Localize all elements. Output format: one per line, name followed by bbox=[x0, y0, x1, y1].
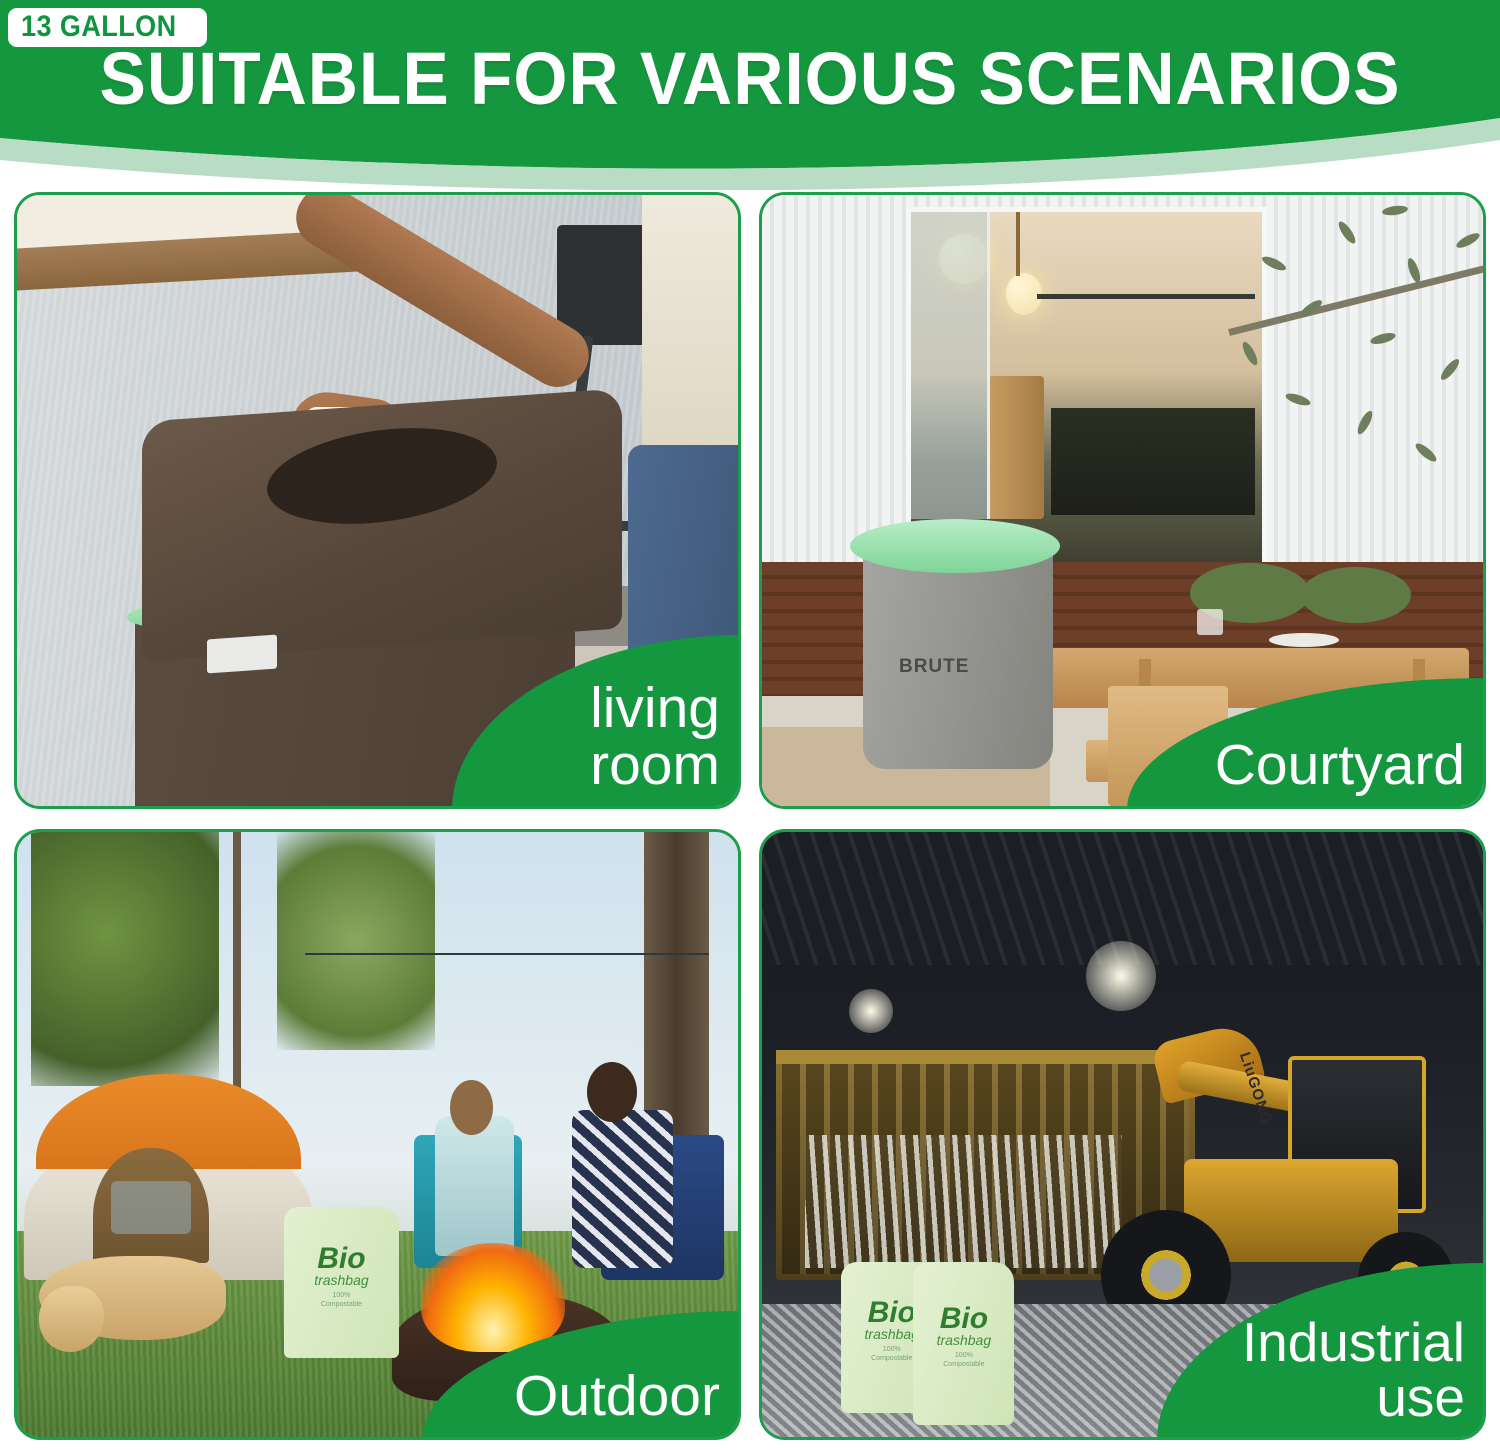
gallon-badge: 13 GALLON bbox=[8, 8, 207, 47]
adult-head bbox=[587, 1062, 637, 1123]
green-bag-liner bbox=[850, 519, 1060, 573]
bio-trashbag: Bio trashbag 100% Compostable bbox=[284, 1207, 399, 1358]
bio-trashbag: Bio trashbag 100% Compostable bbox=[913, 1262, 1014, 1425]
scenario-panel-industrial-use[interactable]: LiuGONG Bio trashbag 100% Compostable Bi… bbox=[759, 829, 1486, 1440]
bio-bag-claim: 100% Compostable bbox=[313, 1291, 371, 1309]
scenario-panel-living-room[interactable]: living room bbox=[14, 192, 741, 809]
bio-bag-claim: 100% Compostable bbox=[937, 1351, 991, 1369]
scenario-panel-outdoor[interactable]: Bio trashbag 100% Compostable Outdoor bbox=[14, 829, 741, 1440]
bio-bag-subbrand: trashbag bbox=[313, 1273, 371, 1287]
falling-waste bbox=[805, 1135, 1122, 1268]
product-feature-image: 13 GALLON SUITABLE FOR VARIOUS SCENARIOS bbox=[0, 0, 1500, 1450]
bio-bag-logo: Bio trashbag 100% Compostable bbox=[937, 1305, 991, 1369]
scenario-tag-label: living room bbox=[590, 680, 741, 809]
page-title-text: SUITABLE FOR VARIOUS SCENARIOS bbox=[100, 42, 1401, 116]
bio-bag-brand: Bio bbox=[313, 1245, 371, 1273]
bio-bag-brand: Bio bbox=[865, 1299, 919, 1327]
bio-bag-subbrand: trashbag bbox=[937, 1333, 991, 1347]
ceiling-lamp bbox=[849, 989, 893, 1033]
bin-brand-label bbox=[207, 635, 277, 674]
child-head bbox=[450, 1080, 493, 1134]
person-torso bbox=[642, 195, 738, 465]
olive-tree bbox=[1195, 192, 1486, 562]
adult bbox=[572, 1110, 673, 1267]
gallon-badge-label: 13 GALLON bbox=[21, 12, 177, 42]
bio-bag-logo: Bio trashbag 100% Compostable bbox=[865, 1299, 919, 1363]
bio-bag-subbrand: trashbag bbox=[865, 1327, 919, 1341]
brute-brand-label: BRUTE bbox=[899, 656, 969, 678]
camping-tent bbox=[24, 1074, 312, 1280]
page-title: SUITABLE FOR VARIOUS SCENARIOS bbox=[0, 42, 1500, 116]
brute-trash-can bbox=[863, 539, 1053, 769]
scenario-grid: living room bbox=[14, 192, 1486, 1442]
bio-bag-brand: Bio bbox=[937, 1305, 991, 1333]
scenario-tag-label: Outdoor bbox=[514, 1368, 741, 1440]
campfire bbox=[421, 1243, 565, 1352]
bio-bag-logo: Bio trashbag 100% Compostable bbox=[313, 1245, 371, 1309]
child bbox=[435, 1116, 514, 1255]
scenario-tag-label: Industrial use bbox=[1242, 1315, 1486, 1440]
scenario-tag-label: Courtyard bbox=[1215, 737, 1486, 809]
header-banner: 13 GALLON SUITABLE FOR VARIOUS SCENARIOS bbox=[0, 0, 1500, 190]
bio-bag-claim: 100% Compostable bbox=[865, 1345, 919, 1363]
scenario-panel-courtyard[interactable]: BRUTE bbox=[759, 192, 1486, 809]
